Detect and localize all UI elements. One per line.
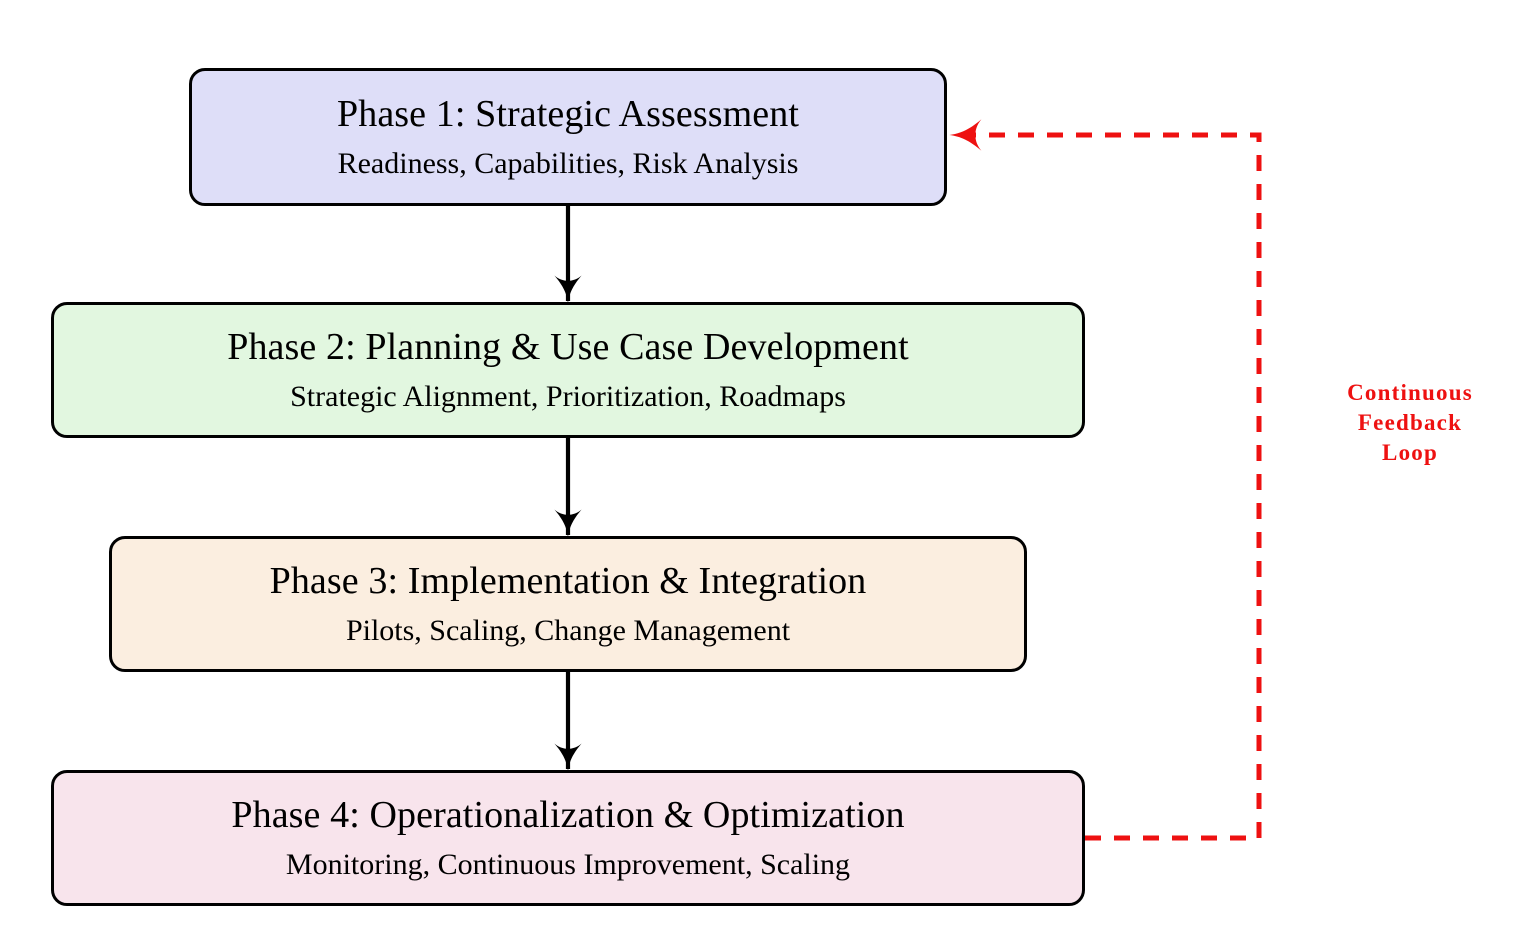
feedback-label-line-2: Feedback xyxy=(1318,408,1502,438)
phase-4-subtitle: Monitoring, Continuous Improvement, Scal… xyxy=(286,850,850,880)
phase-2-title: Phase 2: Planning & Use Case Development xyxy=(227,328,909,366)
continuous-feedback-loop-label: Continuous Feedback Loop xyxy=(1318,378,1502,468)
phase-box-phase-1[interactable]: Phase 1: Strategic Assessment Readiness,… xyxy=(189,68,947,206)
phase-1-subtitle: Readiness, Capabilities, Risk Analysis xyxy=(338,149,799,179)
diagram-canvas: Phase 1: Strategic Assessment Readiness,… xyxy=(0,0,1528,942)
phase-1-title: Phase 1: Strategic Assessment xyxy=(337,95,799,133)
phase-box-phase-2[interactable]: Phase 2: Planning & Use Case Development… xyxy=(51,302,1085,438)
phase-2-subtitle: Strategic Alignment, Prioritization, Roa… xyxy=(290,382,846,412)
phase-4-title: Phase 4: Operationalization & Optimizati… xyxy=(231,796,904,834)
feedback-label-line-3: Loop xyxy=(1318,438,1502,468)
phase-box-phase-4[interactable]: Phase 4: Operationalization & Optimizati… xyxy=(51,770,1085,906)
phase-3-subtitle: Pilots, Scaling, Change Management xyxy=(346,616,790,646)
feedback-label-line-1: Continuous xyxy=(1318,378,1502,408)
phase-box-phase-3[interactable]: Phase 3: Implementation & Integration Pi… xyxy=(109,536,1027,672)
continuous-feedback-loop-path xyxy=(952,135,1259,838)
phase-3-title: Phase 3: Implementation & Integration xyxy=(270,562,867,600)
